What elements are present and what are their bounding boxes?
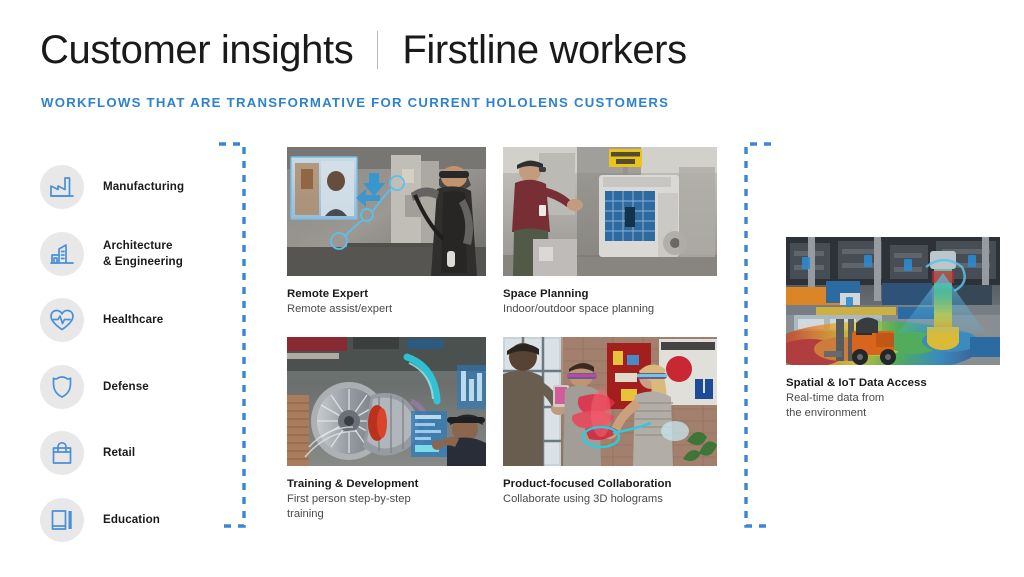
card-image-product-focused-collaboration xyxy=(503,337,717,466)
right-dashed-bracket xyxy=(744,142,772,528)
title-separator xyxy=(377,31,378,69)
factory-icon xyxy=(40,165,84,209)
card-subtitle: Collaborate using 3D holograms xyxy=(503,492,717,507)
book-icon xyxy=(40,498,84,542)
card-product-focused-collaboration[interactable]: Product-focused Collaboration Collaborat… xyxy=(503,337,717,507)
building-icon xyxy=(40,232,84,276)
card-title: Spatial & IoT Data Access xyxy=(786,376,1000,390)
sidebar-item-education[interactable]: Education xyxy=(40,495,240,545)
page-title: Customer insights Firstline workers xyxy=(40,30,687,70)
card-caption: Product-focused Collaboration Collaborat… xyxy=(503,477,717,507)
sidebar-item-label: Defense xyxy=(103,379,149,394)
page-subtitle: WORKFLOWS THAT ARE TRANSFORMATIVE FOR CU… xyxy=(41,95,669,110)
sidebar-item-label: Architecture & Engineering xyxy=(103,238,183,269)
card-remote-expert[interactable]: Remote Expert Remote assist/expert xyxy=(287,147,486,317)
sidebar-item-label: Manufacturing xyxy=(103,179,184,194)
card-title: Training & Development xyxy=(287,477,486,491)
card-caption: Remote Expert Remote assist/expert xyxy=(287,287,486,317)
sidebar-item-architecture-engineering[interactable]: Architecture & Engineering xyxy=(40,229,240,279)
card-spatial-iot-data-access[interactable]: Spatial & IoT Data Access Real-time data… xyxy=(786,237,1000,421)
industry-list: Manufacturing Architecture & Engineering xyxy=(40,162,240,561)
card-image-training-development xyxy=(287,337,486,466)
sidebar-item-healthcare[interactable]: Healthcare xyxy=(40,295,240,345)
sidebar-item-manufacturing[interactable]: Manufacturing xyxy=(40,162,240,212)
card-subtitle: First person step-by-step training xyxy=(287,492,486,522)
title-right: Firstline workers xyxy=(402,30,686,70)
card-space-planning[interactable]: Space Planning Indoor/outdoor space plan… xyxy=(503,147,717,317)
card-image-remote-expert xyxy=(287,147,486,276)
card-title: Space Planning xyxy=(503,287,717,301)
sidebar-item-retail[interactable]: Retail xyxy=(40,428,240,478)
card-training-development[interactable]: Training & Development First person step… xyxy=(287,337,486,522)
card-caption: Space Planning Indoor/outdoor space plan… xyxy=(503,287,717,317)
card-subtitle: Real-time data from the environment xyxy=(786,391,1000,421)
sidebar-item-label: Retail xyxy=(103,445,135,460)
shopping-bag-icon xyxy=(40,431,84,475)
sidebar-item-label: Education xyxy=(103,512,160,527)
slide-root: Customer insights Firstline workers WORK… xyxy=(0,0,1024,577)
card-subtitle: Remote assist/expert xyxy=(287,302,486,317)
heart-pulse-icon xyxy=(40,298,84,342)
card-caption: Spatial & IoT Data Access Real-time data… xyxy=(786,376,1000,421)
title-left: Customer insights xyxy=(40,30,353,70)
sidebar-item-defense[interactable]: Defense xyxy=(40,362,240,412)
sidebar-item-label: Healthcare xyxy=(103,312,163,327)
card-caption: Training & Development First person step… xyxy=(287,477,486,522)
left-dashed-bracket xyxy=(218,142,246,528)
card-title: Product-focused Collaboration xyxy=(503,477,717,491)
card-title: Remote Expert xyxy=(287,287,486,301)
shield-icon xyxy=(40,365,84,409)
card-image-spatial-iot-data-access xyxy=(786,237,1000,365)
card-subtitle: Indoor/outdoor space planning xyxy=(503,302,717,317)
card-image-space-planning xyxy=(503,147,717,276)
